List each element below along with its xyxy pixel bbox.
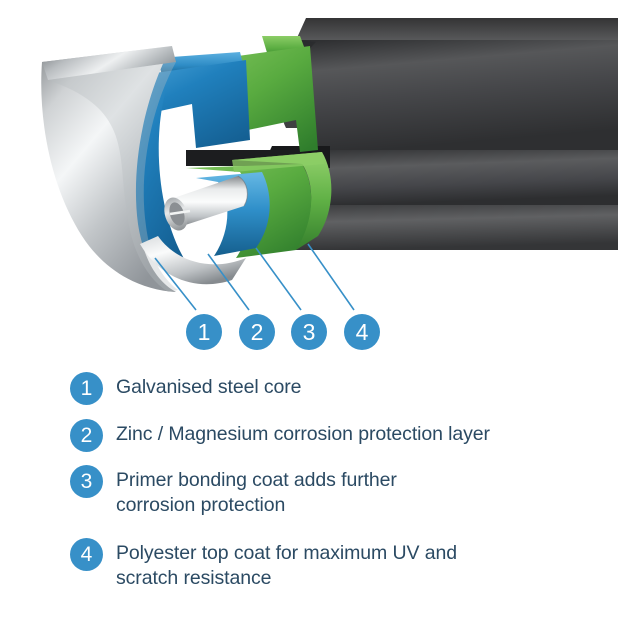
legend-marker-2: 2 <box>70 419 103 452</box>
legend-marker-1: 1 <box>70 372 103 405</box>
callout-marker-2[interactable]: 2 <box>239 314 275 350</box>
legend-item-2: 2Zinc / Magnesium corrosion protection l… <box>70 419 490 452</box>
callout-marker-1[interactable]: 1 <box>186 314 222 350</box>
legend-label-3: Primer bonding coat adds further corrosi… <box>116 465 397 518</box>
legend-item-4: 4Polyester top coat for maximum UV and s… <box>70 538 457 591</box>
callout-marker-3[interactable]: 3 <box>291 314 327 350</box>
leader-line-4 <box>308 244 354 310</box>
callout-marker-4[interactable]: 4 <box>344 314 380 350</box>
legend-marker-4: 4 <box>70 538 103 571</box>
diagram-stage: 1234 1Galvanised steel core2Zinc / Magne… <box>0 0 618 634</box>
leader-line-2 <box>208 254 249 310</box>
legend-item-3: 3Primer bonding coat adds further corros… <box>70 465 397 518</box>
legend-item-1: 1Galvanised steel core <box>70 372 301 405</box>
legend-label-4: Polyester top coat for maximum UV and sc… <box>116 538 457 591</box>
legend-list: 1Galvanised steel core2Zinc / Magnesium … <box>0 372 618 634</box>
legend-label-2: Zinc / Magnesium corrosion protection la… <box>116 419 490 447</box>
legend-marker-3: 3 <box>70 465 103 498</box>
leader-line-1 <box>155 258 196 310</box>
legend-label-1: Galvanised steel core <box>116 372 301 400</box>
leader-line-3 <box>256 248 301 310</box>
